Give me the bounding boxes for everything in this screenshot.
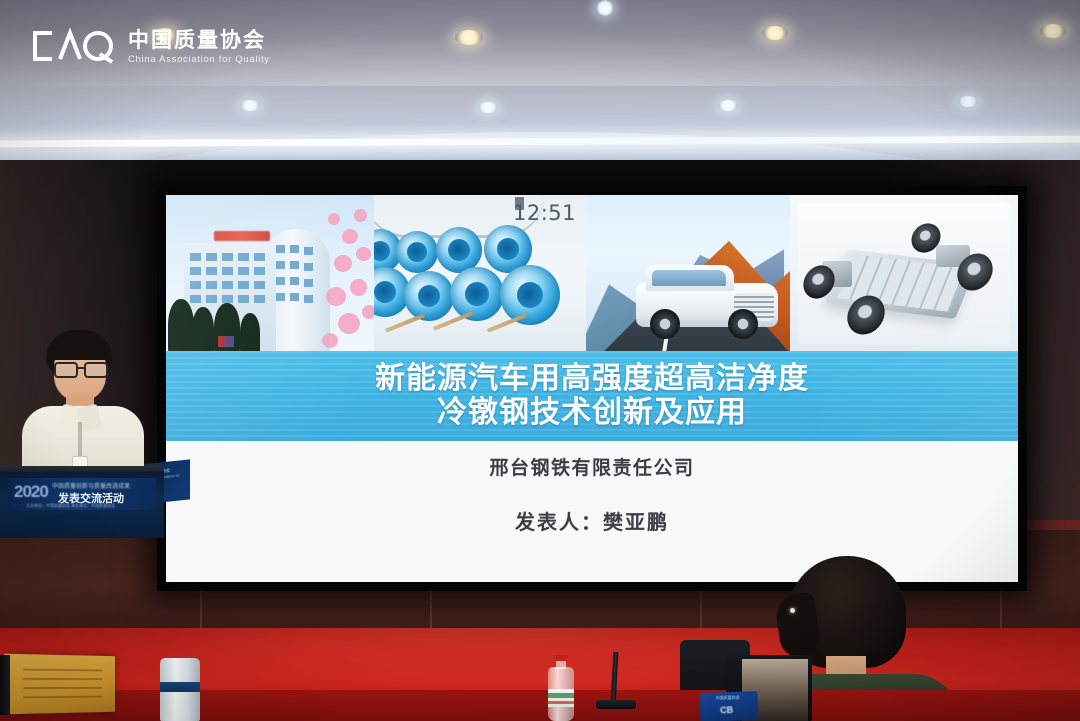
window <box>222 253 233 261</box>
window <box>238 281 249 289</box>
caq-watermark: 中国质量协会 China Association for Quality <box>30 28 270 64</box>
blossom <box>362 305 374 319</box>
window <box>206 295 217 303</box>
steel-coil <box>450 267 504 321</box>
slide-subtitle-block: 邢台钢铁有限责任公司 发表人：樊亚鹏 <box>166 453 1018 535</box>
laptop-screen-text-lines <box>23 669 102 700</box>
window <box>276 261 285 269</box>
window <box>290 245 299 253</box>
suv-vehicle <box>636 265 778 339</box>
window <box>254 253 265 261</box>
window <box>206 267 217 275</box>
blossom <box>328 213 340 225</box>
slide-title-line1: 新能源汽车用高强度超高洁净度 <box>375 362 809 396</box>
glasses-icon <box>54 362 78 378</box>
blossom <box>322 333 338 348</box>
window <box>206 281 217 289</box>
table-nameplate: 中国质量协会 CB <box>700 691 759 721</box>
caq-name-en: China Association for Quality <box>128 55 270 65</box>
coil-core <box>374 281 396 303</box>
bottle-cap <box>554 655 568 661</box>
presenter-fringe <box>50 340 110 360</box>
podium-banner: 2020 中国质量创新与质量改进成果 发表交流活动 主办单位：中国质量协会 承办… <box>8 478 156 510</box>
window <box>190 253 201 261</box>
presentation-slide: 12:51 <box>166 195 1018 582</box>
led-screen-frame: 12:51 <box>157 186 1027 591</box>
window <box>290 261 299 269</box>
window <box>276 277 285 285</box>
glasses-icon <box>84 362 108 378</box>
window <box>222 267 233 275</box>
window <box>276 293 285 301</box>
earring-icon <box>790 608 795 613</box>
steel-coil <box>404 271 454 321</box>
steel-coil <box>500 265 560 325</box>
car-cabin <box>646 265 734 291</box>
downlight-icon <box>240 100 260 111</box>
coil-core <box>465 282 489 306</box>
blossom <box>342 229 358 244</box>
slide-photo-strip: 12:51 <box>166 195 1018 353</box>
caq-watermark-text: 中国质量协会 China Association for Quality <box>128 30 270 65</box>
downlight-icon <box>958 96 978 107</box>
blossom <box>356 247 371 261</box>
slide-speaker: 发表人：樊亚鹏 <box>166 506 1018 535</box>
downlight-icon <box>478 102 498 113</box>
car-wheel <box>650 309 680 339</box>
blossom <box>326 287 346 306</box>
ev-battery-chassis-photo <box>790 195 1018 353</box>
window <box>238 267 249 275</box>
caq-name-cn: 中国质量协会 <box>128 30 270 51</box>
tree-icon <box>240 313 260 353</box>
coil-core <box>418 285 440 307</box>
window <box>222 295 233 303</box>
tree-icon <box>168 299 194 353</box>
window <box>290 277 299 285</box>
tree-icon <box>192 307 214 353</box>
podium-banner-year: 2020 <box>14 482 48 502</box>
nameplate-mark: CB <box>720 705 733 715</box>
coil-core <box>448 239 470 261</box>
window <box>190 267 201 275</box>
led-screen: 12:51 <box>166 195 1018 582</box>
slide-title: 新能源汽车用高强度超高洁净度 冷镦钢技术创新及应用 <box>166 351 1018 441</box>
laptop-screen <box>4 654 115 715</box>
glasses-bridge <box>76 367 85 369</box>
window <box>238 295 249 303</box>
laptop-edge <box>0 655 10 715</box>
conference-photo-scene: 12:51 <box>0 0 1080 721</box>
window <box>222 281 233 289</box>
podium-banner-foot-line: 主办单位：中国质量协会 承办单位：中国质量协会 <box>26 503 115 509</box>
blossom <box>338 313 360 334</box>
steel-coil-warehouse-photo: 12:51 <box>374 195 586 353</box>
steel-coil <box>396 231 438 273</box>
microphone-base <box>596 700 636 709</box>
blossom <box>354 209 367 222</box>
caq-logo-icon <box>30 28 116 64</box>
slide-title-line2: 冷镦钢技术创新及应用 <box>437 396 747 430</box>
slide-clock: 12:51 <box>513 201 576 225</box>
window <box>304 263 313 271</box>
bottle-label <box>548 689 574 707</box>
downlight-icon <box>762 26 788 40</box>
window <box>254 295 265 303</box>
laptop-on-table <box>0 655 128 721</box>
white-suv-mountain-road-photo <box>586 195 790 353</box>
coil-core <box>407 242 427 262</box>
window <box>190 295 201 303</box>
blossom <box>350 279 367 296</box>
car-windows <box>652 270 726 286</box>
thermos-band <box>160 682 200 692</box>
blossom <box>334 255 352 272</box>
window <box>276 245 285 253</box>
flag-icon <box>218 336 234 347</box>
downlight-icon <box>455 30 483 45</box>
projector-mount-icon <box>596 0 614 16</box>
podium-banner-top-line: 中国质量创新与质量改进成果 <box>52 481 130 490</box>
slide-organization: 邢台钢铁有限责任公司 <box>166 453 1018 480</box>
downlight-icon <box>1040 24 1066 38</box>
coil-core <box>517 282 543 308</box>
bottle-label-red-stripe <box>548 701 574 704</box>
window <box>304 279 313 287</box>
coil-core <box>374 241 390 261</box>
window <box>254 281 265 289</box>
window <box>304 247 313 255</box>
window <box>190 281 201 289</box>
building-sign-text <box>214 231 270 241</box>
water-bottle <box>548 655 574 721</box>
window <box>290 293 299 301</box>
window <box>238 253 249 261</box>
window <box>206 253 217 261</box>
company-headquarters-photo <box>166 195 374 353</box>
window <box>304 295 313 303</box>
downlight-icon <box>718 100 738 111</box>
window <box>254 267 265 275</box>
nameplate-top-text: 中国质量协会 <box>716 695 740 702</box>
bottle-label-green-stripe <box>548 693 574 698</box>
car-wheel <box>728 309 758 339</box>
coil-core <box>497 238 519 260</box>
